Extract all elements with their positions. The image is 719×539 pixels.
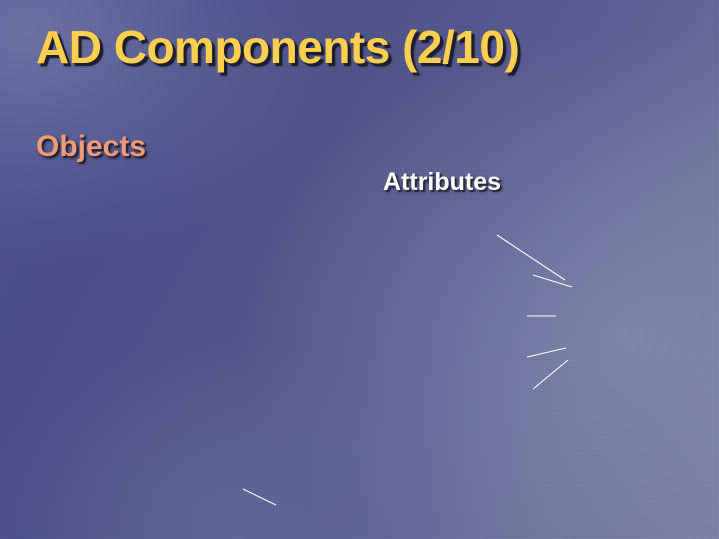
page-title: AD Components (2/10) xyxy=(36,20,719,74)
connector-rounded-red xyxy=(527,348,566,357)
connector-green xyxy=(497,235,565,280)
connector-red-para xyxy=(533,275,572,287)
slide-canvas: AD Components (2/10) Objects Attributes xyxy=(0,0,719,539)
heading-attributes: Attributes xyxy=(383,168,719,197)
heading-objects: Objects xyxy=(36,130,719,164)
connector-dir-red xyxy=(243,489,276,505)
connector-purple-para xyxy=(533,360,568,389)
